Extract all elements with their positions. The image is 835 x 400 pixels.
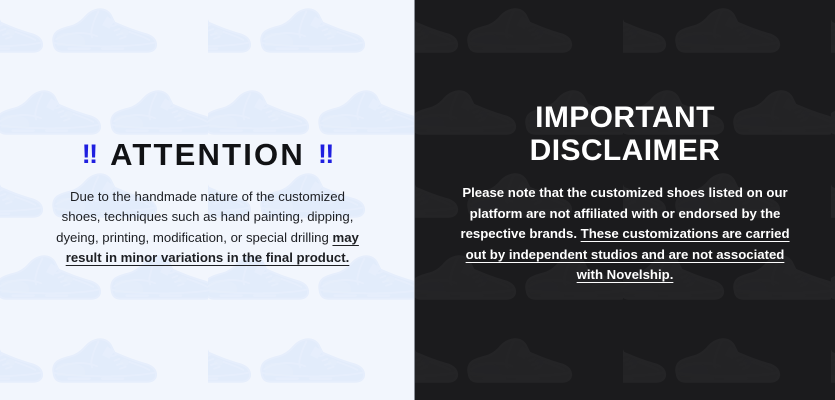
attention-panel: ‼ ATTENTION ‼ Due to the handmade nature…	[0, 0, 415, 400]
double-exclamation-right-icon: ‼	[318, 140, 333, 168]
attention-heading: ‼ ATTENTION ‼	[24, 139, 391, 172]
attention-body-text: Due to the handmade nature of the custom…	[53, 187, 363, 269]
double-exclamation-left-icon: ‼	[82, 140, 97, 168]
attention-body-normal: Due to the handmade nature of the custom…	[56, 189, 353, 245]
disclaimer-panel-content: IMPORTANT DISCLAIMER Please note that th…	[415, 102, 835, 285]
disclaimer-heading-line-2: DISCLAIMER	[439, 135, 811, 167]
attention-heading-word: ATTENTION	[110, 139, 305, 172]
disclaimer-body-text: Please note that the customized shoes li…	[460, 183, 790, 285]
disclaimer-heading-line-1: IMPORTANT	[439, 102, 811, 134]
customization-disclaimer-banner: ‼ ATTENTION ‼ Due to the handmade nature…	[0, 0, 835, 400]
disclaimer-heading: IMPORTANT DISCLAIMER	[439, 102, 811, 167]
attention-panel-content: ‼ ATTENTION ‼ Due to the handmade nature…	[0, 139, 415, 268]
disclaimer-panel: IMPORTANT DISCLAIMER Please note that th…	[415, 0, 835, 400]
